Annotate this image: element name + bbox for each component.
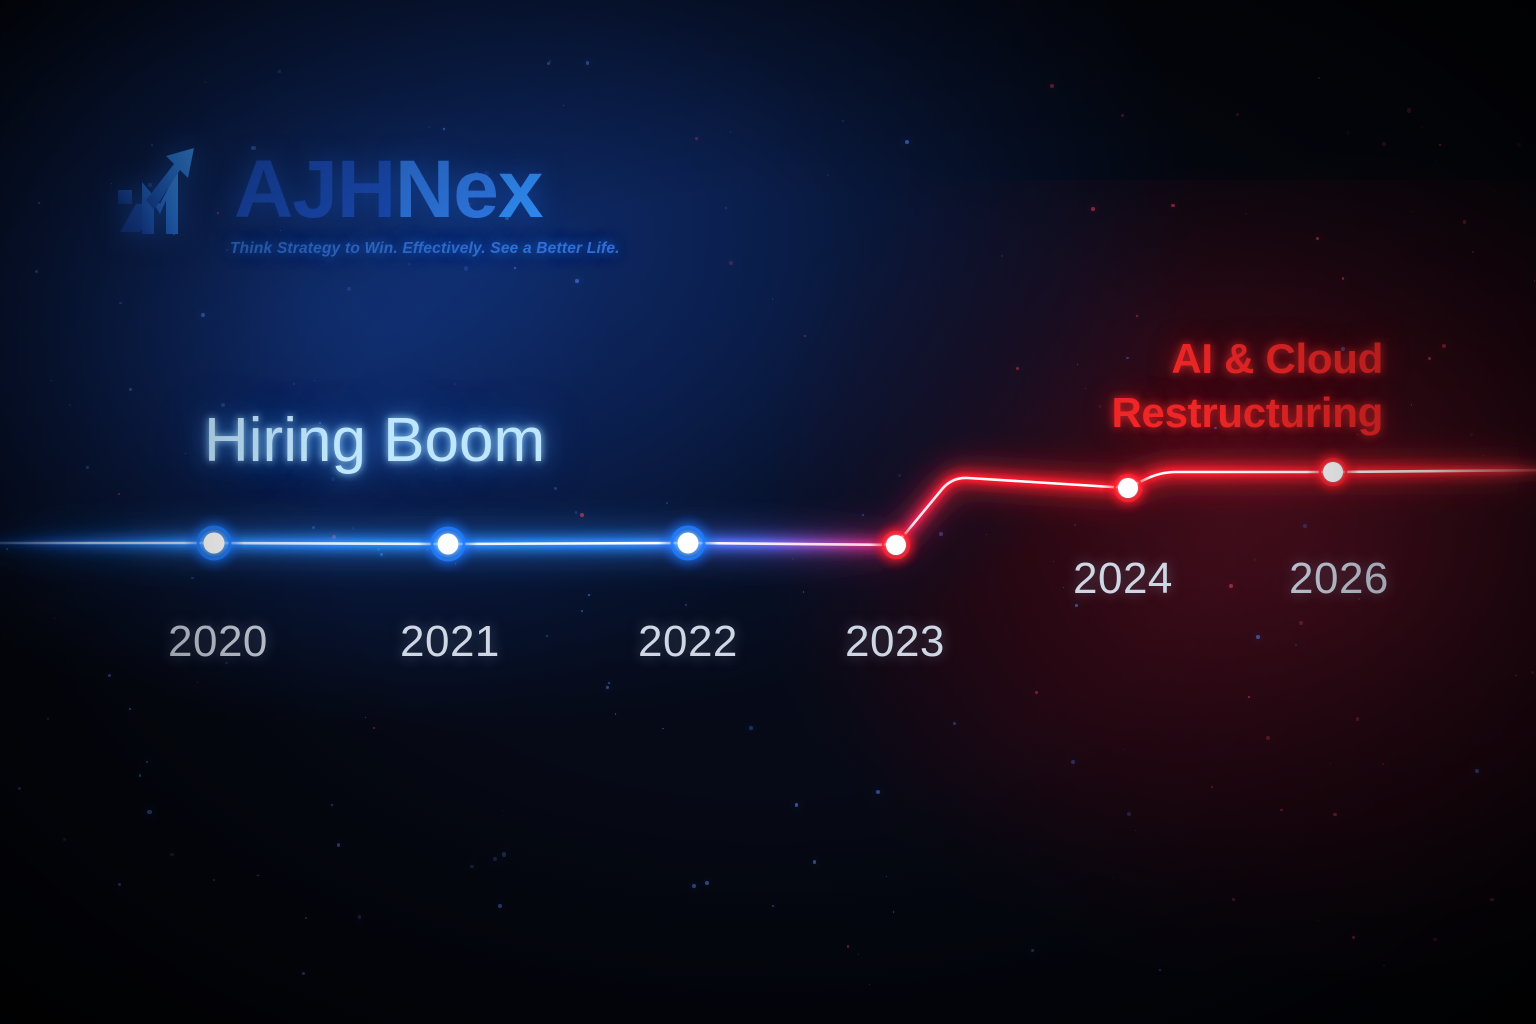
- timeline-node-2021[interactable]: [418, 514, 478, 574]
- timeline-node-2023[interactable]: [870, 519, 922, 571]
- phase-label-line1: AI & Cloud: [1112, 332, 1383, 386]
- year-label-2026: 2026: [1289, 554, 1389, 604]
- node-core: [1323, 462, 1343, 482]
- phase-label-hiring-boom: Hiring Boom: [204, 405, 545, 476]
- year-label-2020: 2020: [168, 617, 268, 667]
- timeline-node-2026[interactable]: [1307, 446, 1359, 498]
- year-label-2021: 2021: [400, 617, 500, 667]
- year-label-2022: 2022: [638, 617, 738, 667]
- timeline-chart: [0, 0, 1536, 1024]
- timeline-node-2024[interactable]: [1102, 462, 1154, 514]
- year-label-2024: 2024: [1073, 554, 1173, 604]
- timeline-node-2022[interactable]: [658, 513, 718, 573]
- timeline-infographic: AJHNex Think Strategy to Win. Effectivel…: [0, 0, 1536, 1024]
- year-label-2023: 2023: [845, 617, 945, 667]
- phase-label-ai-cloud-restructuring: AI & Cloud Restructuring: [1112, 332, 1383, 440]
- timeline-node-2020[interactable]: [184, 513, 244, 573]
- node-core: [678, 533, 699, 554]
- node-core: [886, 535, 906, 555]
- phase-label-line2: Restructuring: [1112, 386, 1383, 440]
- node-core: [438, 534, 459, 555]
- node-core: [1118, 478, 1138, 498]
- node-core: [204, 533, 225, 554]
